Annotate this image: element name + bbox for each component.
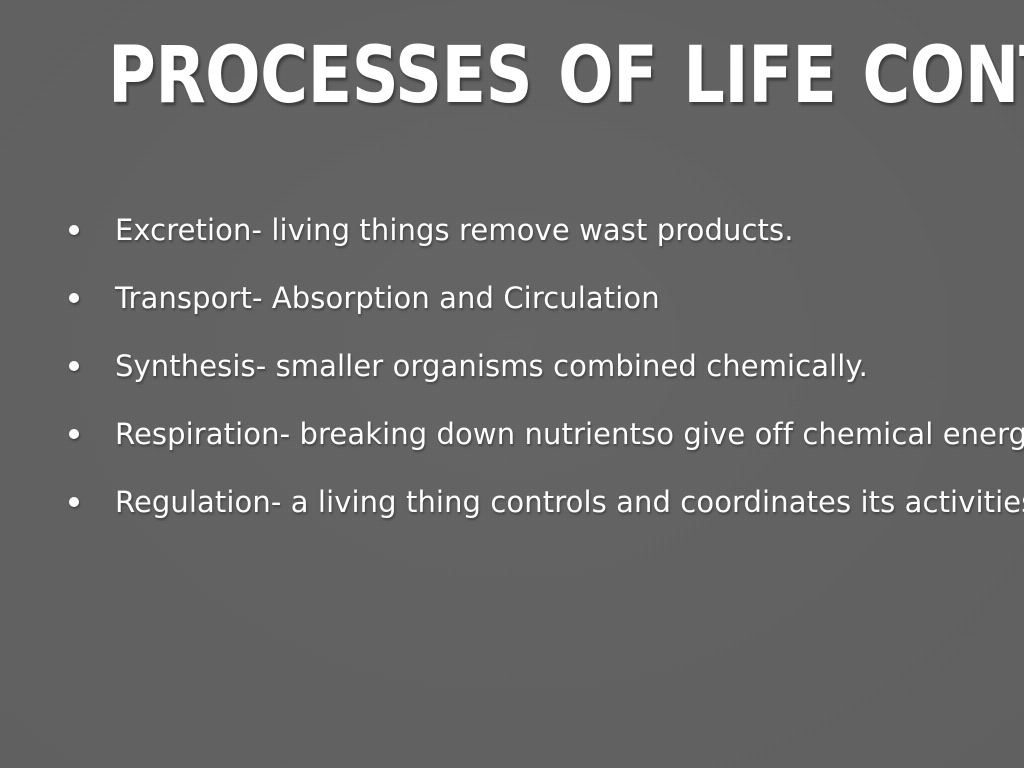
list-item-label: Excretion- living things remove wast pro…	[115, 213, 794, 247]
list-item: Respiration- breaking down nutrientso gi…	[60, 400, 1010, 468]
list-item: Regulation- a living thing controls and …	[60, 468, 1010, 536]
list-item-label: Synthesis- smaller organisms combined ch…	[115, 349, 868, 383]
bullet-list: Excretion- living things remove wast pro…	[60, 196, 1010, 536]
list-item: Excretion- living things remove wast pro…	[60, 196, 1010, 264]
list-item-label: Transport- Absorption and Circulation	[115, 281, 660, 315]
list-item-label: Regulation- a living thing controls and …	[115, 485, 1024, 519]
bullet-dot-icon	[69, 361, 79, 371]
bullet-dot-icon	[69, 497, 79, 507]
list-item: Synthesis- smaller organisms combined ch…	[60, 332, 1010, 400]
list-item: Transport- Absorption and Circulation	[60, 264, 1010, 332]
presentation-slide: PROCESSES OF LIFE CONT... Excretion- liv…	[0, 0, 1024, 768]
list-item-label: Respiration- breaking down nutrientso gi…	[115, 417, 1024, 451]
bullet-dot-icon	[69, 429, 79, 439]
bullet-dot-icon	[69, 293, 79, 303]
slide-title: PROCESSES OF LIFE CONT...	[108, 33, 926, 119]
bullet-dot-icon	[69, 225, 79, 235]
